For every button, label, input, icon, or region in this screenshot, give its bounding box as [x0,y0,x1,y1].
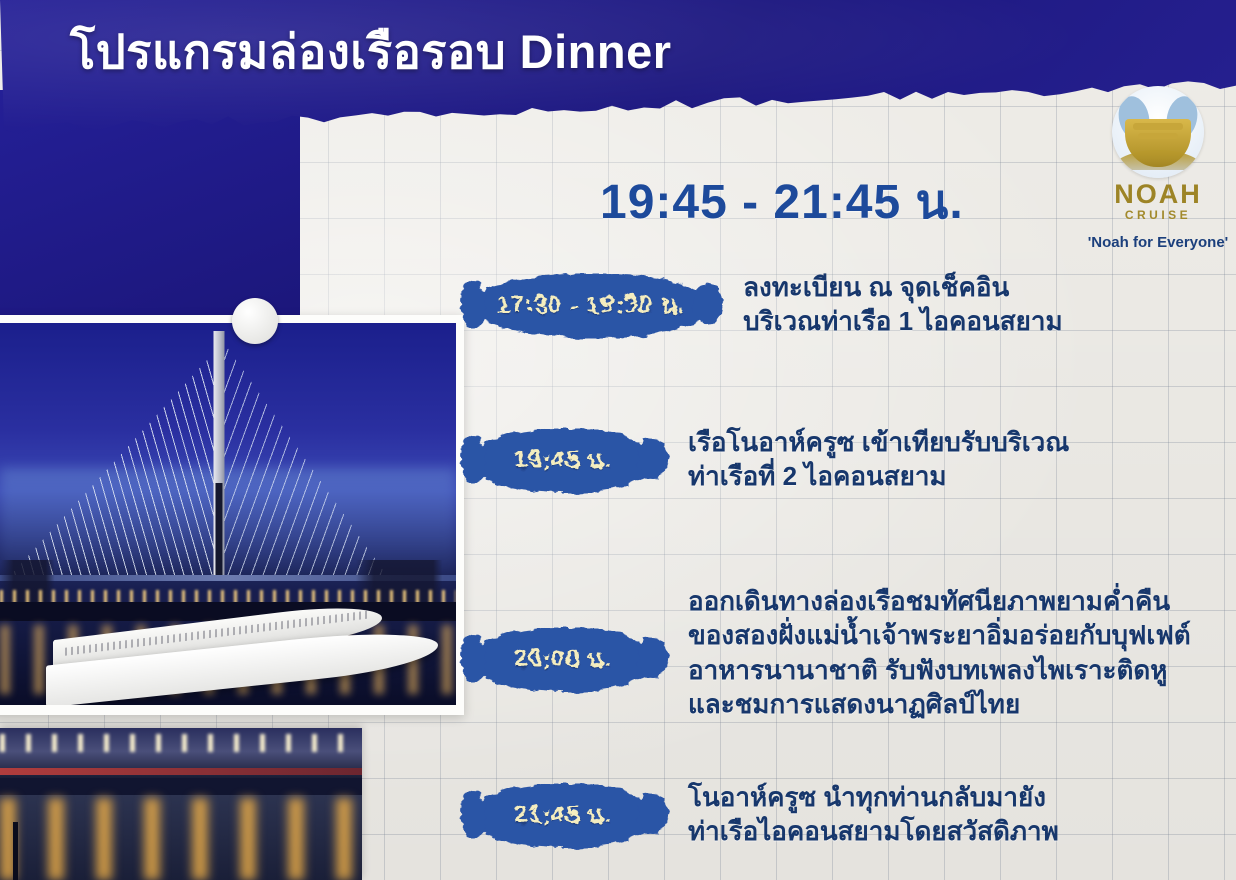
timeline-description-3: ออกเดินทางล่องเรือชมทัศนียภาพยามค่ำคืน ข… [688,584,1191,721]
brand-name: NOAH [1085,180,1231,208]
timeline-description-4: โนอาห์ครูซ นำทุกท่านกลับมายัง ท่าเรือไอค… [688,780,1059,849]
night-water-reflections [0,798,362,880]
timeline-time-badge-4: 21:45 น. [470,784,656,848]
wave-icon [1112,150,1204,170]
night-pole [13,822,18,880]
cruise-ship-icon [46,613,438,693]
timeline-time-badge-3: 20:00 น. [470,628,656,692]
photo-card-bridge-cruise [0,315,464,715]
timeline-item-3: 20:00 น. ออกเดินทางล่องเรือชมทัศนียภาพยา… [470,586,1191,721]
poster-root: โปรแกรมล่องเรือรอบ Dinner 19:45 - 21:45 … [0,0,1236,880]
brand-logo: NOAH CRUISE 'Noah for Everyone' [1085,86,1231,251]
night-river-bank [0,778,362,795]
timeline-item-2: 19:45 น. เรือโนอาห์ครูซ เข้าเทียบรับบริเ… [470,425,1069,494]
ark-globe-icon [1112,86,1204,178]
timeline-time-badge-1: 17:30 - 19:30 น. [470,274,711,338]
timeline-description-2: เรือโนอาห์ครูซ เข้าเทียบรับบริเวณ ท่าเรื… [688,425,1069,494]
timeline-description-1: ลงทะเบียน ณ จุดเช็คอิน บริเวณท่าเรือ 1 ไ… [743,270,1063,339]
header-banner: โปรแกรมล่องเรือรอบ Dinner [0,0,1236,150]
timeline-time-badge-2: 19:45 น. [470,429,656,493]
photo-card-night-bridge [0,728,362,880]
headline-time-range: 19:45 - 21:45 น. [600,164,964,240]
photo-pin-icon [232,298,278,344]
page-title: โปรแกรมล่องเรือรอบ Dinner [70,14,672,89]
photo-image-bridge-cruise [0,323,456,705]
timeline-item-1: 17:30 - 19:30 น. ลงทะเบียน ณ จุดเช็คอิน … [470,270,1063,339]
night-bridge-lamps [0,734,362,752]
brand-tagline: 'Noah for Everyone' [1085,234,1231,251]
brand-subtitle: CRUISE [1085,208,1231,222]
night-bridge-deck [0,768,362,776]
timeline-item-4: 21:45 น. โนอาห์ครูซ นำทุกท่านกลับมายัง ท… [470,780,1059,849]
